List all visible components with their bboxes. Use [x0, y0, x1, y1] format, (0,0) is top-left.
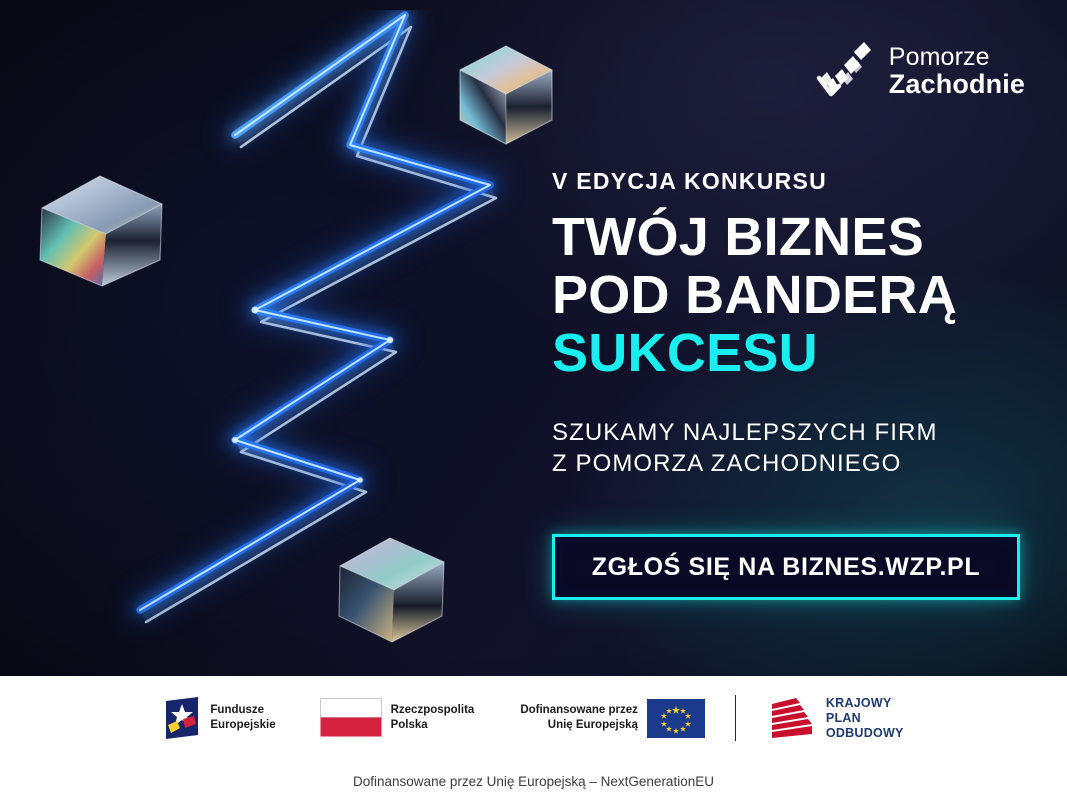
glass-cube-top-icon: [452, 40, 560, 150]
promotional-banner: Pomorze Zachodnie V EDYCJA KONKURSU TWÓJ…: [0, 0, 1067, 800]
caption-line-1: Dofinansowane przez: [520, 703, 638, 718]
subheadline-line-1: SZUKAMY NAJLEPSZYCH FIRM: [552, 418, 1032, 449]
dofinansowane-ue-caption: Dofinansowane przez Unię Europejską: [520, 703, 638, 732]
logo-dofinansowane-ue: Dofinansowane przez Unię Europejską: [520, 699, 705, 738]
eu-flag-icon: [647, 699, 705, 738]
headline-line-1: TWÓJ BIZNES: [552, 208, 1052, 266]
caption-line-2: Unię Europejską: [520, 718, 638, 733]
footer-funding-note: Dofinansowane przez Unię Europejską – Ne…: [0, 774, 1067, 789]
logo-rzeczpospolita-polska: Rzeczpospolita Polska: [320, 698, 475, 738]
glass-cube-left-icon: [34, 168, 172, 292]
hero-content: V EDYCJA KONKURSU TWÓJ BIZNES POD BANDER…: [552, 0, 1032, 676]
logo-fundusze-europejskie: Fundusze Europejskie: [163, 695, 275, 741]
rzeczpospolita-polska-caption: Rzeczpospolita Polska: [391, 703, 475, 732]
headline-line-2: POD BANDERĄ: [552, 266, 1052, 324]
caption-line-2: Europejskie: [210, 718, 275, 733]
headline: TWÓJ BIZNES POD BANDERĄ SUKCESU: [552, 208, 1052, 382]
footer-logo-strip: Fundusze Europejskie Rzeczpospolita Pols…: [0, 694, 1067, 742]
hero-section: Pomorze Zachodnie V EDYCJA KONKURSU TWÓJ…: [0, 0, 1067, 676]
caption-line-1: Fundusze: [210, 703, 275, 718]
footer-divider: [735, 695, 736, 741]
logo-krajowy-plan-odbudowy: KRAJOWY PLAN ODBUDOWY: [766, 694, 904, 742]
subheadline-line-2: Z POMORZA ZACHODNIEGO: [552, 449, 1032, 480]
kpo-caption: KRAJOWY PLAN ODBUDOWY: [826, 696, 904, 741]
caption-line-3: ODBUDOWY: [826, 726, 904, 741]
fundusze-europejskie-caption: Fundusze Europejskie: [210, 703, 275, 732]
footer-section: Fundusze Europejskie Rzeczpospolita Pols…: [0, 676, 1067, 800]
eyebrow-text: V EDYCJA KONKURSU: [552, 170, 827, 193]
caption-line-2: PLAN: [826, 711, 904, 726]
glass-cube-bottom-icon: [334, 532, 452, 648]
subheadline: SZUKAMY NAJLEPSZYCH FIRM Z POMORZA ZACHO…: [552, 418, 1032, 479]
poland-flag-icon: [320, 698, 382, 738]
headline-line-3: SUKCESU: [552, 324, 1052, 382]
cta-button[interactable]: ZGŁOŚ SIĘ NA BIZNES.WZP.PL: [552, 534, 1020, 600]
caption-line-1: KRAJOWY: [826, 696, 904, 711]
cta-button-label: ZGŁOŚ SIĘ NA BIZNES.WZP.PL: [592, 553, 981, 582]
kpo-building-icon: [766, 694, 816, 742]
caption-line-1: Rzeczpospolita: [391, 703, 475, 718]
fundusze-europejskie-icon: [163, 695, 201, 741]
caption-line-2: Polska: [391, 718, 475, 733]
